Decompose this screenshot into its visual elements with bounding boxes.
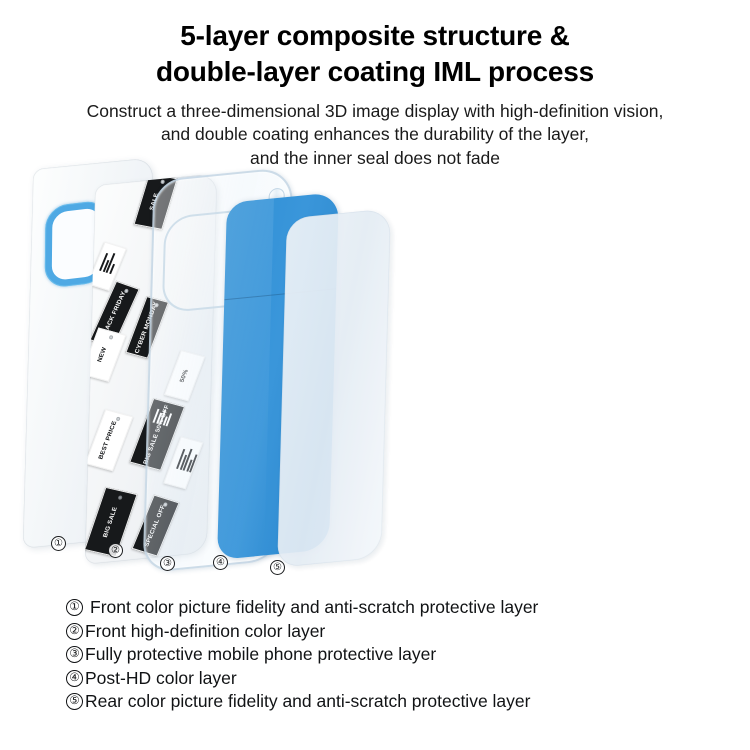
legend-marker-3: ③ — [66, 646, 83, 663]
diagram-layer-5-rear-protective-film — [277, 208, 391, 567]
legend-item-3: ③ Fully protective mobile phone protecti… — [66, 643, 706, 667]
legend-label-2: Front high-definition color layer — [85, 623, 325, 641]
diagram-marker-2: ② — [108, 543, 123, 558]
exploded-layer-diagram: SALE BLACK FRIDAY CYBER MONDAY NEW BEST … — [0, 158, 750, 583]
diagram-marker-4: ④ — [213, 555, 228, 570]
sticker-tag: BEST PRICE — [85, 409, 134, 471]
legend-marker-2: ② — [66, 623, 83, 640]
layer-legend-list: ① Front color picture fidelity and anti-… — [66, 596, 706, 714]
layer-5-panel — [277, 208, 391, 567]
legend-marker-4: ④ — [66, 670, 83, 687]
sticker-tag-label: BEST PRICE — [99, 420, 120, 460]
title-line-1: 5-layer composite structure & — [0, 18, 750, 54]
diagram-marker-5: ⑤ — [270, 560, 285, 575]
title-line-2: double-layer coating IML process — [0, 54, 750, 90]
legend-item-5: ⑤ Rear color picture fidelity and anti-s… — [66, 690, 706, 714]
legend-marker-5: ⑤ — [66, 693, 83, 710]
legend-marker-1: ① — [66, 599, 83, 616]
subtitle-line-2: and double coating enhances the durabili… — [0, 123, 750, 147]
legend-label-3: Fully protective mobile phone protective… — [85, 646, 436, 664]
legend-item-1: ① Front color picture fidelity and anti-… — [66, 596, 706, 620]
tag-hole-icon — [124, 288, 129, 293]
diagram-marker-1: ① — [51, 536, 66, 551]
infographic-header: 5-layer composite structure & double-lay… — [0, 0, 750, 171]
subtitle-line-1: Construct a three-dimensional 3D image d… — [0, 100, 750, 124]
tag-hole-icon — [118, 495, 123, 500]
legend-label-1: Front color picture fidelity and anti-sc… — [90, 599, 538, 617]
legend-item-2: ② Front high-definition color layer — [66, 620, 706, 644]
sticker-tag-label: BIG SALE — [103, 506, 120, 538]
diagram-marker-3: ③ — [160, 556, 175, 571]
tag-hole-icon — [109, 335, 114, 340]
tag-hole-icon — [116, 416, 121, 421]
barcode-icon — [99, 251, 119, 274]
layer-4-gloss — [217, 198, 274, 560]
legend-label-5: Rear color picture fidelity and anti-scr… — [85, 693, 530, 711]
sticker-tag-label: NEW — [98, 346, 110, 362]
legend-item-4: ④ Post-HD color layer — [66, 667, 706, 691]
legend-label-4: Post-HD color layer — [85, 670, 237, 688]
page-title: 5-layer composite structure & double-lay… — [0, 18, 750, 90]
